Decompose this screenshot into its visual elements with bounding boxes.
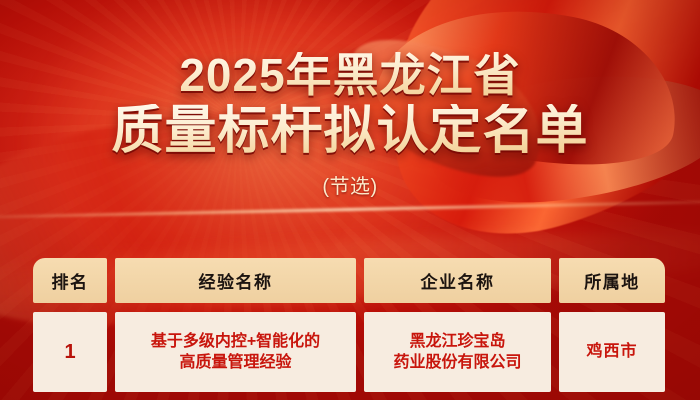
table-row: 1 基于多级内控+智能化的 高质量管理经验 黑龙江珍宝岛 药业股份有限公司 鸡西… [33,312,665,392]
cell-experience-line-1: 基于多级内控+智能化的 [151,331,320,352]
poster-title-line-2: 质量标杆拟认定名单 [0,104,700,158]
table-header-row: 排名 经验名称 企业名称 所属地 [33,258,665,303]
title-block: 2025年黑龙江省 质量标杆拟认定名单 (节选) [0,52,700,199]
cell-region: 鸡西市 [559,312,665,392]
cell-experience-line-2: 高质量管理经验 [151,352,320,373]
ranking-table: 排名 经验名称 企业名称 所属地 1 基于多级内控+智能化的 高质量管理经验 黑… [33,258,665,400]
column-header-company: 企业名称 [364,258,551,303]
poster-root: 2025年黑龙江省 质量标杆拟认定名单 (节选) 排名 经验名称 企业名称 所属… [0,0,700,400]
column-header-rank: 排名 [33,258,107,303]
column-header-experience: 经验名称 [115,258,356,303]
poster-subtitle: (节选) [0,170,700,199]
poster-title-line-1: 2025年黑龙江省 [0,52,700,100]
cell-company-line-2: 药业股份有限公司 [393,352,521,373]
cell-company-line-1: 黑龙江珍宝岛 [393,331,521,352]
cell-company: 黑龙江珍宝岛 药业股份有限公司 [364,312,551,392]
column-header-region: 所属地 [559,258,665,303]
cell-rank: 1 [33,312,107,392]
cell-experience: 基于多级内控+智能化的 高质量管理经验 [115,312,356,392]
